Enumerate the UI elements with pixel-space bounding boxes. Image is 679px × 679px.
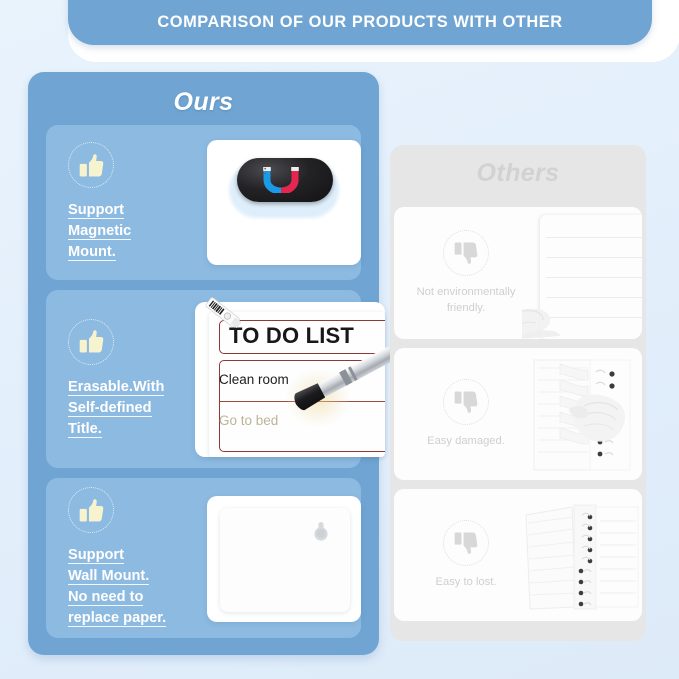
thumbs-down-icon [443, 379, 489, 425]
others-feature-card-easy-to-lost: Easy to lost. [394, 489, 642, 621]
ghost-hand-icon [522, 285, 598, 339]
others-feature-label: Not environmentally friendly. [417, 285, 516, 316]
others-feature-label: Easy to lost. [436, 575, 497, 591]
others-feature-card-not-eco: Not environmentally friendly. [394, 207, 642, 339]
feature-line: friendly. [447, 302, 485, 314]
feature-line: No need to [68, 589, 143, 606]
ours-heading: Ours [28, 88, 379, 117]
page-title: COMPARISON OF OUR PRODUCTS WITH OTHER [157, 13, 562, 45]
thumbs-up-icon [68, 142, 114, 188]
thumbs-down-icon [443, 230, 489, 276]
marker-pen-icon [191, 280, 255, 344]
others-feature-text-column: Easy to lost. [402, 489, 530, 621]
feature-line: Mount. [68, 244, 116, 261]
others-feature-text-column: Easy damaged. [402, 348, 530, 480]
others-feature-text-column: Not environmentally friendly. [402, 207, 530, 339]
paper-line [546, 237, 642, 238]
ours-feature-text-column: Support Magnetic Mount. [68, 125, 196, 280]
others-heading: Others [390, 159, 646, 188]
whiteboard-surface [220, 508, 350, 612]
paper-line [546, 257, 642, 258]
others-feature-card-easy-damaged: Easy damaged. [394, 348, 642, 480]
paper-line [546, 277, 642, 278]
ours-panel: Ours Support Magnetic Mount. [28, 72, 379, 655]
others-feature-label: Easy damaged. [427, 434, 505, 450]
magnet-glyph [262, 167, 302, 193]
ours-feature-label: Support Magnetic Mount. [68, 200, 196, 263]
others-panel: Others [390, 145, 646, 641]
thumbs-down-icon [443, 520, 489, 566]
feature-line: Wall Mount. [68, 568, 149, 585]
thumbs-up-icon [68, 319, 114, 365]
eraser-marker-icon [283, 330, 401, 430]
todo-item-erased: Go to bed [219, 413, 278, 428]
lined-paper-with-hand-photo [522, 207, 642, 339]
ours-feature-card-wall-mount: Support Wall Mount. No need to replace p… [46, 478, 361, 638]
todo-item: Clean room [219, 372, 289, 387]
magnetic-mount-photo [207, 140, 361, 265]
ours-feature-text-column: Erasable.With Self-defined Title. [68, 290, 196, 468]
header-banner: COMPARISON OF OUR PRODUCTS WITH OTHER [68, 0, 652, 45]
ours-feature-card-magnetic-mount: Support Magnetic Mount. [46, 125, 361, 280]
ours-feature-label: Erasable.With Self-defined Title. [68, 377, 196, 440]
ours-feature-card-erasable: Erasable.With Self-defined Title. TO DO … [46, 290, 361, 468]
feature-line: Support [68, 202, 124, 219]
feature-line: Easy to lost. [436, 576, 497, 588]
feature-line: Magnetic [68, 223, 131, 240]
feature-line: Easy damaged. [427, 435, 505, 447]
feature-line: Not environmentally [417, 286, 516, 298]
feature-line: Support [68, 547, 124, 564]
torn-notepad-icon [530, 354, 634, 474]
spiral-notepad-icon [524, 497, 640, 615]
feature-line: Erasable.With [68, 379, 164, 396]
infographic-canvas: COMPARISON OF OUR PRODUCTS WITH OTHER Ou… [0, 0, 679, 679]
wall-mount-photo [207, 496, 361, 622]
feature-line: Self-defined [68, 400, 152, 417]
spiral-notepad-photo [522, 489, 642, 621]
erasable-todo-board-photo: TO DO LIST Clean room Go to bed [195, 302, 385, 457]
feature-line: replace paper. [68, 610, 166, 627]
ours-feature-label: Support Wall Mount. No need to replace p… [68, 545, 196, 629]
feature-line: Title. [68, 421, 102, 438]
thumbs-up-icon [68, 487, 114, 533]
torn-notepad-with-hand-photo [522, 348, 642, 480]
ours-feature-text-column: Support Wall Mount. No need to replace p… [68, 478, 196, 638]
keyhole-mount-icon [312, 520, 330, 542]
